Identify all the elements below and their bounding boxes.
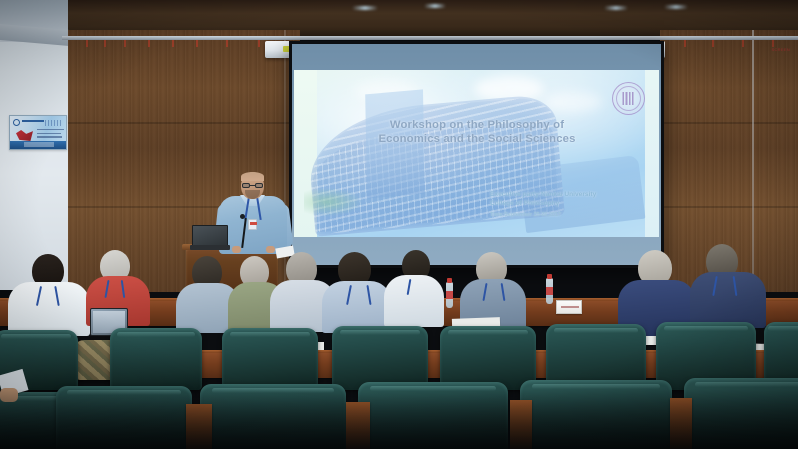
speaker-right-hand: [266, 246, 275, 253]
person-torso: [690, 272, 766, 328]
chair: [222, 328, 318, 390]
microphone-head: [240, 214, 245, 219]
slide-organizer-line-1: Executive party:Nankai University: [490, 190, 650, 199]
person-torso: [8, 282, 90, 336]
slide-title-line-2: Economics and the Social Sciences: [342, 132, 612, 146]
water-bottle: [446, 282, 453, 308]
slide-foliage: [304, 188, 362, 216]
slide-date: Time:September 25-26,2017: [490, 212, 650, 218]
ceiling-light: [424, 4, 446, 8]
projection-screen: Workshop on the Philosophy of Economics …: [292, 44, 661, 265]
ceiling-light: [352, 6, 378, 10]
poster-footer-band: [10, 141, 66, 149]
speaker-glasses: [242, 183, 263, 188]
poster-calendar-grid: [45, 120, 63, 126]
water-bottle: [546, 278, 553, 304]
poster-logo-icon: [13, 119, 20, 126]
slide-organizer-line-2: College of Philosophy: [490, 199, 650, 208]
presentation-slide: Workshop on the Philosophy of Economics …: [294, 70, 659, 237]
chair: [332, 326, 428, 390]
person-torso: [384, 275, 444, 327]
wall-poster: [9, 115, 67, 150]
housing-logo-text: SCREEN: [772, 47, 790, 52]
speaker-hairline: [241, 172, 264, 181]
chair: [440, 326, 536, 390]
poster-text-lines: [37, 129, 64, 140]
conference-room-photo: SCREEN Workshop on the Philosophy of Eco…: [0, 0, 798, 449]
ceiling-light: [664, 5, 688, 9]
poster-calligraphy: [16, 130, 33, 141]
chair: [110, 328, 202, 390]
speaker-badge: [248, 219, 257, 230]
podium-laptop-base: [190, 245, 230, 250]
speaker-left-hand: [232, 246, 241, 253]
slide-organizer: Executive party:Nankai University Colleg…: [490, 190, 650, 208]
nankai-university-seal-icon: [612, 82, 645, 115]
wood-panel-seam: [752, 30, 754, 292]
ceiling-light: [604, 6, 628, 10]
slide-title: Workshop on the Philosophy of Economics …: [342, 118, 612, 146]
podium-laptop: [192, 225, 228, 246]
slide-title-line-1: Workshop on the Philosophy of: [342, 118, 612, 132]
floor-shadow: [0, 389, 798, 449]
name-placard: [556, 300, 582, 314]
poster-title-bar: [22, 120, 44, 122]
